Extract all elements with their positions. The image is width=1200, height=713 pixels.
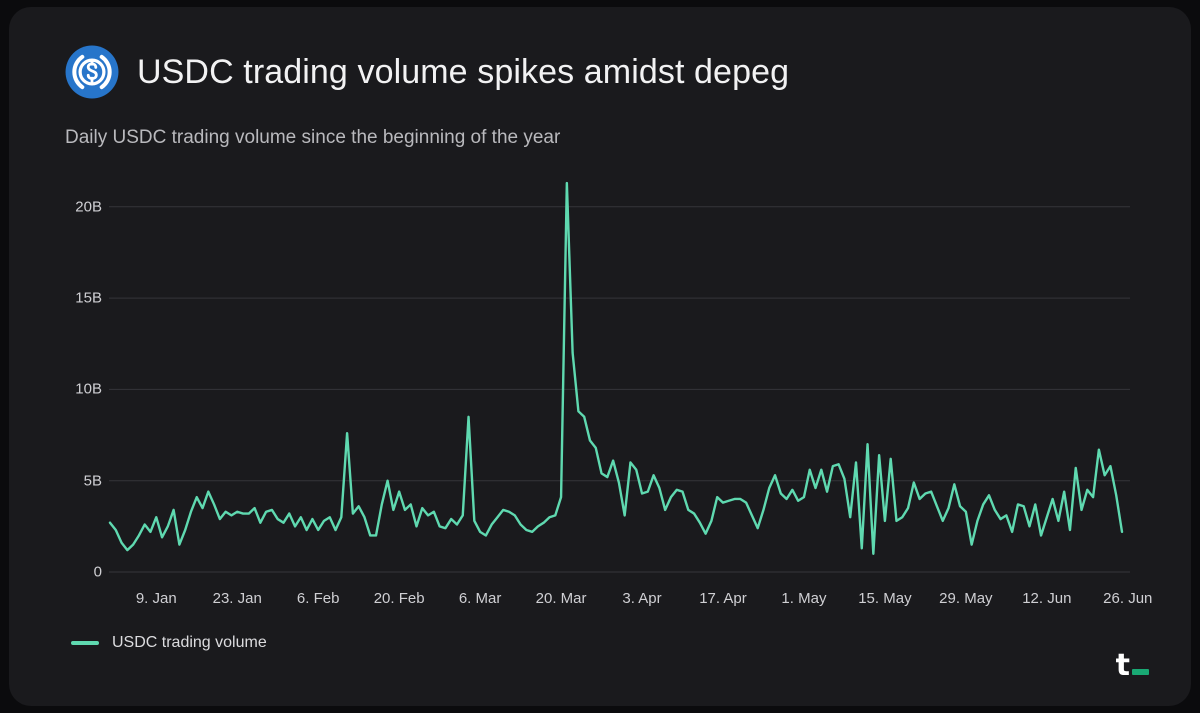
screenshot-canvas: USDC trading volume spikes amidst depeg …: [0, 0, 1200, 713]
brand-letter: t: [1116, 654, 1129, 678]
x-axis-tick-label: 20. Mar: [536, 590, 587, 607]
y-axis-tick-label: 10B: [75, 381, 102, 398]
y-axis-tick-label: 5B: [84, 472, 102, 489]
y-axis-tick-label: 15B: [75, 290, 102, 307]
x-axis-tick-label: 17. Apr: [699, 590, 747, 607]
chart-card: USDC trading volume spikes amidst depeg …: [9, 7, 1191, 706]
page-title: USDC trading volume spikes amidst depeg: [137, 52, 789, 92]
x-axis-tick-label: 23. Jan: [213, 590, 262, 607]
x-axis-tick-label: 12. Jun: [1022, 590, 1071, 607]
x-axis-ticks: 9. Jan23. Jan6. Feb20. Feb6. Mar20. Mar3…: [9, 590, 1191, 614]
chart-gridlines: [109, 207, 1130, 572]
x-axis-tick-label: 15. May: [858, 590, 911, 607]
x-axis-tick-label: 26. Jun: [1103, 590, 1152, 607]
legend-line-swatch: [71, 641, 99, 645]
chart-legend[interactable]: USDC trading volume: [71, 634, 267, 652]
x-axis-tick-label: 6. Feb: [297, 590, 340, 607]
x-axis-tick-label: 20. Feb: [374, 590, 425, 607]
legend-label: USDC trading volume: [112, 634, 267, 652]
x-axis-tick-label: 29. May: [939, 590, 992, 607]
x-axis-tick-label: 6. Mar: [459, 590, 502, 607]
x-axis-tick-label: 3. Apr: [622, 590, 661, 607]
x-axis-tick-label: 9. Jan: [136, 590, 177, 607]
chart-header: USDC trading volume spikes amidst depeg: [65, 45, 789, 99]
chart-subtitle: Daily USDC trading volume since the begi…: [65, 125, 560, 151]
y-axis-tick-label: 20B: [75, 198, 102, 215]
brand-logo: t: [1116, 654, 1149, 678]
series-line-usdc-trading-volume: [110, 183, 1122, 554]
x-axis-tick-label: 1. May: [781, 590, 826, 607]
y-axis-tick-label: 0: [94, 564, 102, 581]
brand-underscore-bar: [1132, 669, 1149, 675]
